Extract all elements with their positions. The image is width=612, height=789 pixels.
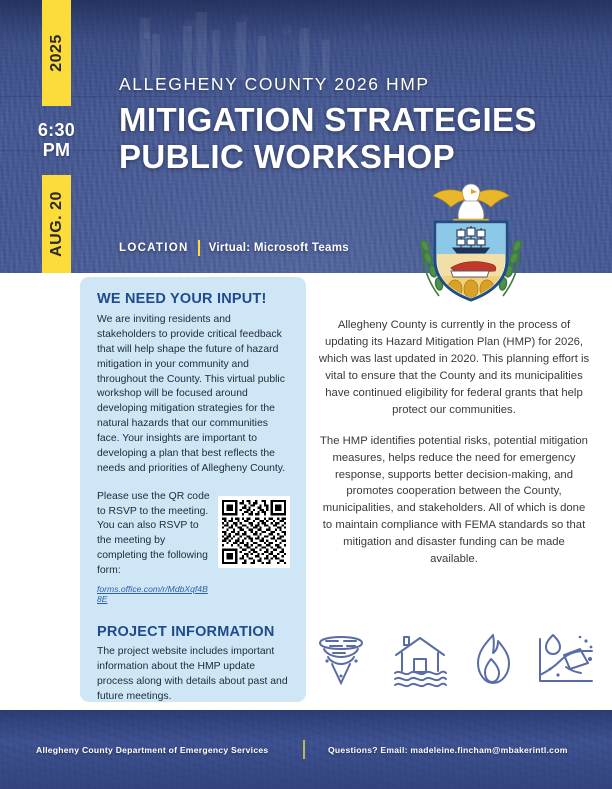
we-need-input-paragraph: We are inviting residents and stakeholde… (97, 313, 290, 477)
project-information-heading: PROJECT INFORMATION (97, 624, 290, 640)
time-meridiem-label: PM (43, 141, 71, 160)
rsvp-qr-code[interactable] (218, 496, 290, 568)
right-text-column: Allegheny County is currently in the pro… (318, 317, 590, 582)
tornado-icon (312, 631, 370, 689)
event-title-line-2: PUBLIC WORKSHOP (119, 138, 539, 175)
day-label: AUG. 20 (48, 191, 66, 257)
hazard-icon-row (312, 631, 596, 689)
hmp-overview-paragraph: Allegheny County is currently in the pro… (318, 317, 590, 419)
hmp-benefits-paragraph: The HMP identifies potential risks, pote… (318, 433, 590, 569)
footer-bar: Allegheny County Department of Emergency… (0, 710, 612, 789)
input-info-panel: WE NEED YOUR INPUT! We are inviting resi… (80, 277, 306, 702)
allegheny-county-seal (409, 176, 533, 304)
year-badge: 2025 (42, 0, 71, 106)
year-label: 2025 (48, 34, 66, 72)
event-kicker: ALLEGHENY COUNTY 2026 HMP (119, 74, 539, 95)
time-hour-label: 6:30 (38, 121, 75, 140)
landslide-icon (536, 631, 596, 689)
footer-contact-label: Questions? Email: madeleine.fincham@mbak… (328, 745, 568, 755)
rsvp-block: Please use the QR code to RSVP to the me… (97, 490, 290, 604)
location-row: LOCATION Virtual: Microsoft Teams (119, 240, 349, 256)
location-label: LOCATION (119, 242, 189, 254)
eagle-crest (433, 184, 509, 222)
location-value: Virtual: Microsoft Teams (209, 242, 349, 254)
flooded-house-icon (391, 631, 449, 689)
rsvp-form-link[interactable]: forms.office.com/r/MdbXqf4B8E (97, 584, 211, 604)
location-divider (198, 240, 200, 256)
date-bar: 2025 6:30 PM AUG. 20 (42, 0, 71, 273)
rsvp-paragraph: Please use the QR code to RSVP to the me… (97, 490, 211, 579)
we-need-input-heading: WE NEED YOUR INPUT! (97, 291, 290, 307)
time-block: 6:30 PM (34, 106, 79, 175)
header-text-block: ALLEGHENY COUNTY 2026 HMP MITIGATION STR… (119, 74, 539, 176)
day-badge: AUG. 20 (42, 175, 71, 273)
footer-divider (303, 740, 305, 759)
event-title-line-1: MITIGATION STRATEGIES (119, 101, 539, 138)
wildfire-flame-icon (469, 631, 515, 689)
project-information-paragraph: The project website includes important i… (97, 645, 290, 705)
footer-agency-label: Allegheny County Department of Emergency… (36, 745, 268, 755)
main-content: WE NEED YOUR INPUT! We are inviting resi… (0, 273, 612, 710)
